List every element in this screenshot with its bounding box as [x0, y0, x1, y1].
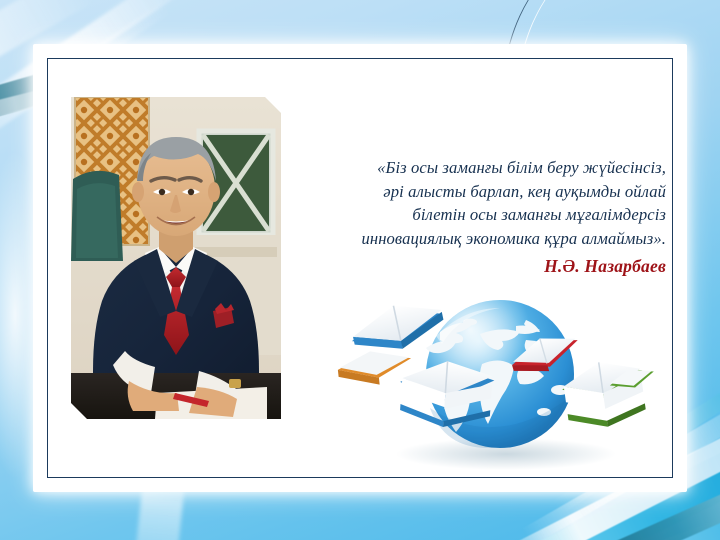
quote-attribution: Н.Ә. Назарбаев: [252, 256, 666, 277]
quote-line-3: білетін осы заманғы мұғалімдерсіз: [252, 203, 666, 227]
quote-line-1: «Біз осы заманғы білім беру жүйесінсіз,: [252, 156, 666, 180]
globe-with-books-illustration: [330, 286, 676, 482]
ribbon-bottom-right-3: [506, 484, 720, 540]
quote-line-2: әрі алысты барлап, кең ауқымды ойлай: [252, 180, 666, 204]
ribbon-bottom-right-6: [569, 512, 720, 540]
quote-text: «Біз осы заманғы білім беру жүйесінсіз, …: [252, 156, 666, 250]
slide-canvas: «Біз осы заманғы білім беру жүйесінсіз, …: [0, 0, 720, 540]
quote-line-4: инновациялық экономика құра алмаймыз».: [252, 227, 666, 251]
portrait-photo: [71, 97, 281, 419]
